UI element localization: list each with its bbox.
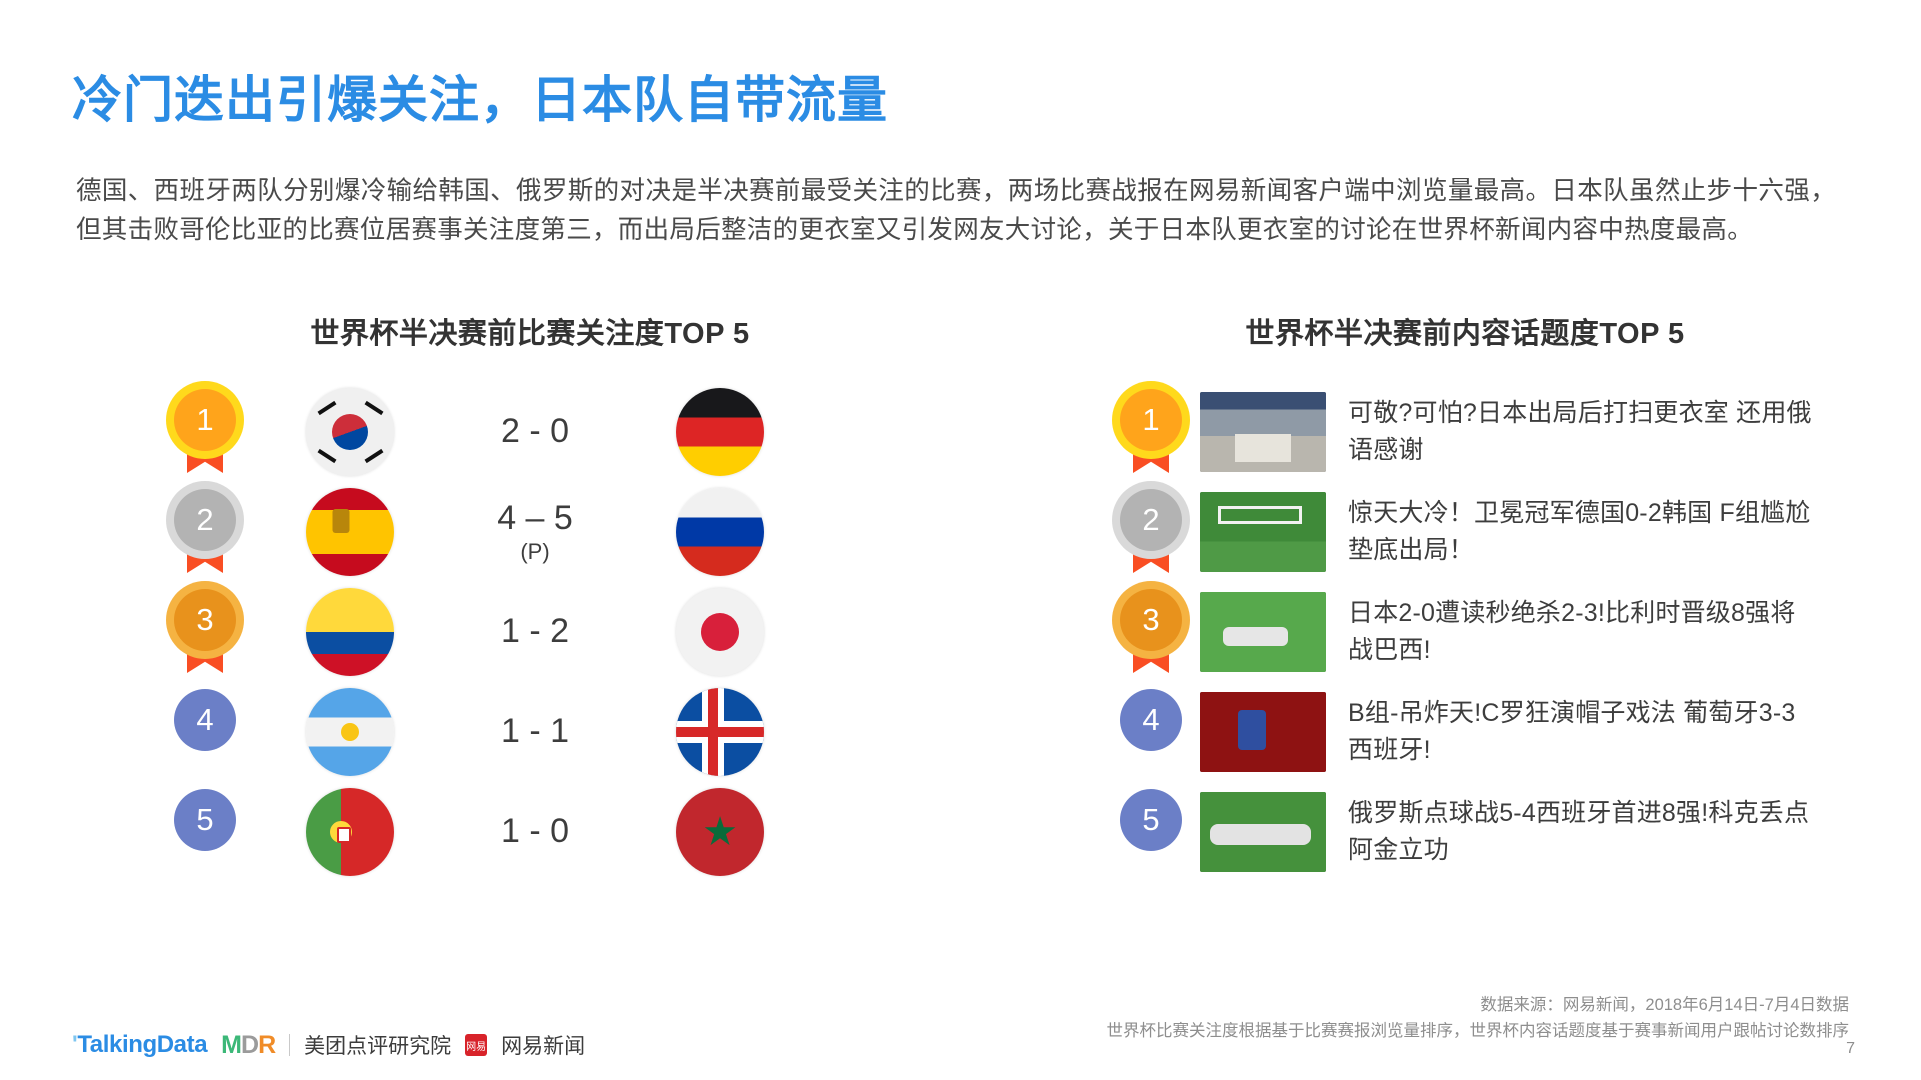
celebration-photo <box>1200 792 1326 872</box>
korea-trigram-icon <box>365 449 384 463</box>
news-thumbnail[interactable] <box>1200 592 1326 672</box>
match-score: 2 - 0 <box>440 413 630 450</box>
korea-flag <box>306 388 394 476</box>
korea-trigram-icon <box>318 401 337 415</box>
rank-badge: 5 <box>1120 789 1182 875</box>
rank-cell: 4 <box>1108 689 1194 775</box>
japan-sun-icon <box>701 613 739 651</box>
slide-root: 冷门迭出引爆关注，日本队自带流量 德国、西班牙两队分别爆冷输给韩国、俄罗斯的对决… <box>0 0 1921 1080</box>
rank-number: 4 <box>1120 689 1182 751</box>
rank-cell: 3 <box>1108 589 1194 675</box>
away-flag-cell <box>630 688 810 776</box>
rank-number: 2 <box>174 489 236 551</box>
footer-logos: 'TalkingData MDR 美团点评研究院 网易 网易新闻 <box>72 1030 585 1060</box>
home-flag-cell <box>260 588 440 676</box>
argentina-sun-icon <box>341 723 359 741</box>
iceland-flag <box>676 688 764 776</box>
rank-cell: 2 <box>1108 489 1194 575</box>
match-score: 1 - 1 <box>440 713 630 750</box>
portugal-flag <box>306 788 394 876</box>
japan-flag <box>676 588 764 676</box>
away-flag-cell: ★ <box>630 788 810 876</box>
page-number: 7 <box>1846 1040 1855 1058</box>
rank-badge: 5 <box>174 789 236 875</box>
russia-flag <box>676 488 764 576</box>
match-score: 4 – 5 (P) <box>440 500 630 564</box>
penalty-note: (P) <box>440 540 630 564</box>
home-flag-cell <box>260 488 440 576</box>
morocco-flag: ★ <box>676 788 764 876</box>
morocco-star-icon: ★ <box>702 812 738 852</box>
rank-medal-icon: 3 <box>1120 589 1182 675</box>
rank-cell: 5 <box>150 789 260 875</box>
rank-badge: 4 <box>1120 689 1182 775</box>
rank-medal-icon: 1 <box>1120 389 1182 475</box>
korea-taeguk-icon <box>332 414 368 450</box>
away-flag-cell <box>630 388 810 476</box>
rank-number: 3 <box>174 589 236 651</box>
mdr-logo: MDR <box>221 1031 275 1060</box>
rank-cell: 4 <box>150 689 260 775</box>
left-column-header: 世界杯半决赛前比赛关注度TOP 5 <box>180 310 880 352</box>
score-text: 1 - 0 <box>501 812 569 850</box>
match-row: 2 4 – 5 (P) <box>150 482 890 582</box>
rank-number: 5 <box>174 789 236 851</box>
source-note: 数据来源：网易新闻，2018年6月14日-7月4日数据 世界杯比赛关注度根据基于… <box>1107 992 1850 1044</box>
right-column-header: 世界杯半决赛前内容话题度TOP 5 <box>1075 310 1855 352</box>
match-score: 1 - 2 <box>440 613 630 650</box>
rank-number: 4 <box>174 689 236 751</box>
korea-trigram-icon <box>365 401 384 415</box>
logo-divider <box>289 1034 290 1056</box>
match-score: 1 - 0 <box>440 813 630 850</box>
rank-cell: 1 <box>1108 389 1194 475</box>
rank-cell: 3 <box>150 589 260 675</box>
news-item[interactable]: 2 惊天大冷！卫冕冠军德国0-2韩国 F组尴尬垫底出局！ <box>1108 482 1868 582</box>
iceland-cross-icon <box>676 727 764 737</box>
rank-medal-icon: 3 <box>174 589 236 675</box>
news-item[interactable]: 3 日本2-0遭读秒绝杀2-3!比利时晋级8强将战巴西! <box>1108 582 1868 682</box>
germany-flag <box>676 388 764 476</box>
away-flag-cell <box>630 488 810 576</box>
talkingdata-label: TalkingData <box>77 1031 207 1058</box>
argentina-flag <box>306 688 394 776</box>
source-line-1: 数据来源：网易新闻，2018年6月14日-7月4日数据 <box>1107 992 1850 1018</box>
score-text: 1 - 1 <box>501 712 569 750</box>
match-list: 1 2 - 0 <box>150 382 890 882</box>
source-line-2: 世界杯比赛关注度根据基于比赛赛报浏览量排序，世界杯内容话题度基于赛事新闻用户跟帖… <box>1107 1018 1850 1044</box>
netease-badge-icon: 网易 <box>465 1034 487 1056</box>
rank-cell: 5 <box>1108 789 1194 875</box>
news-title[interactable]: 惊天大冷！卫冕冠军德国0-2韩国 F组尴尬垫底出局！ <box>1348 495 1818 569</box>
rank-number: 1 <box>1120 389 1182 451</box>
score-text: 4 – 5 <box>497 499 573 537</box>
news-title[interactable]: 日本2-0遭读秒绝杀2-3!比利时晋级8强将战巴西! <box>1348 595 1818 669</box>
news-thumbnail[interactable] <box>1200 692 1326 772</box>
spain-flag <box>306 488 394 576</box>
match-row: 3 1 - 2 <box>150 582 890 682</box>
home-flag-cell <box>260 688 440 776</box>
page-subtitle: 德国、西班牙两队分别爆冷输给韩国、俄罗斯的对决是半决赛前最受关注的比赛，两场比赛… <box>76 172 1836 250</box>
rank-medal-icon: 2 <box>1120 489 1182 575</box>
news-item[interactable]: 5 俄罗斯点球战5-4西班牙首进8强!科克丢点阿金立功 <box>1108 782 1868 882</box>
match-row: 5 1 - 0 ★ <box>150 782 890 882</box>
locker-room-photo <box>1200 392 1326 472</box>
news-title[interactable]: 可敬?可怕?日本出局后打扫更衣室 还用俄语感谢 <box>1348 395 1818 469</box>
rank-number: 2 <box>1120 489 1182 551</box>
korea-trigram-icon <box>318 449 337 463</box>
away-flag-cell <box>630 588 810 676</box>
portugal-crest-icon <box>330 821 352 843</box>
news-thumbnail[interactable] <box>1200 492 1326 572</box>
match-row: 4 1 - 1 <box>150 682 890 782</box>
rank-badge: 4 <box>174 689 236 775</box>
colombia-flag <box>306 588 394 676</box>
home-flag-cell <box>260 388 440 476</box>
news-item[interactable]: 1 可敬?可怕?日本出局后打扫更衣室 还用俄语感谢 <box>1108 382 1868 482</box>
score-text: 2 - 0 <box>501 412 569 450</box>
players-pitch-photo <box>1200 592 1326 672</box>
rank-number: 3 <box>1120 589 1182 651</box>
news-title[interactable]: 俄罗斯点球战5-4西班牙首进8强!科克丢点阿金立功 <box>1348 795 1818 869</box>
news-list: 1 可敬?可怕?日本出局后打扫更衣室 还用俄语感谢 2 惊天大冷！卫冕冠军德国0… <box>1108 382 1868 882</box>
rank-number: 5 <box>1120 789 1182 851</box>
netease-label: 网易新闻 <box>501 1030 585 1060</box>
talkingdata-logo: 'TalkingData <box>72 1031 207 1059</box>
news-thumbnail[interactable] <box>1200 792 1326 872</box>
rank-medal-icon: 1 <box>174 389 236 475</box>
score-text: 1 - 2 <box>501 612 569 650</box>
rank-medal-icon: 2 <box>174 489 236 575</box>
goal-save-photo <box>1200 492 1326 572</box>
news-thumbnail[interactable] <box>1200 392 1326 472</box>
home-flag-cell <box>260 788 440 876</box>
red-crowd-photo <box>1200 692 1326 772</box>
rank-cell: 2 <box>150 489 260 575</box>
news-item[interactable]: 4 B组-吊炸天!C罗狂演帽子戏法 葡萄牙3-3西班牙! <box>1108 682 1868 782</box>
meituan-label: 美团点评研究院 <box>304 1030 451 1060</box>
spain-crest-icon <box>333 509 350 533</box>
match-row: 1 2 - 0 <box>150 382 890 482</box>
rank-cell: 1 <box>150 389 260 475</box>
page-title: 冷门迭出引爆关注，日本队自带流量 <box>72 60 888 132</box>
rank-number: 1 <box>174 389 236 451</box>
news-title[interactable]: B组-吊炸天!C罗狂演帽子戏法 葡萄牙3-3西班牙! <box>1348 695 1818 769</box>
